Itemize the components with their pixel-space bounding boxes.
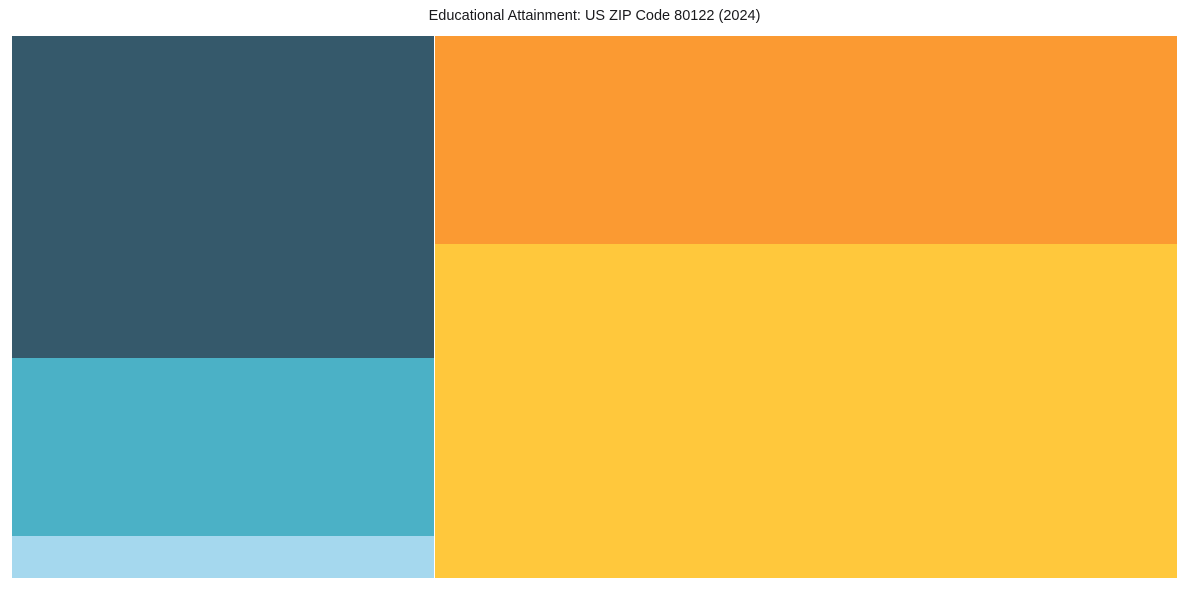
treemap-column-left: Graduate or professional degree Bachelor… — [12, 36, 434, 578]
treemap-column-right: Some college High school graduate — [434, 36, 1177, 578]
treemap-figure: Educational Attainment: US ZIP Code 8012… — [0, 0, 1189, 590]
treemap-tile-bachelors-degree[interactable]: Bachelor's degree — [12, 358, 434, 536]
treemap-plot-area: Graduate or professional degree Bachelor… — [12, 36, 1177, 578]
treemap-tile-graduate-or-professional-degree[interactable]: Graduate or professional degree — [12, 36, 434, 358]
treemap-tile-some-college[interactable]: Some college — [434, 36, 1177, 244]
treemap-tile-associates-degree[interactable]: Associate's degree — [12, 536, 434, 578]
treemap-tile-high-school-graduate[interactable]: High school graduate — [434, 244, 1177, 578]
chart-title: Educational Attainment: US ZIP Code 8012… — [0, 7, 1189, 25]
